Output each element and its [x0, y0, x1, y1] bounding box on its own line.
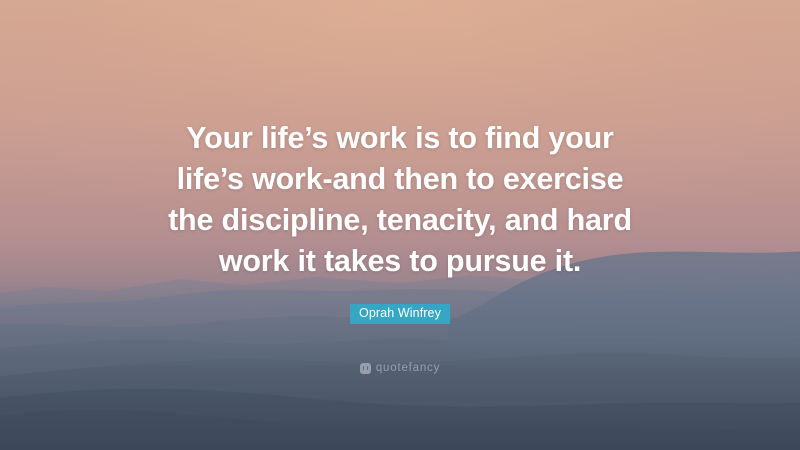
quote-line-1: Your life’s work is to find your — [160, 118, 640, 159]
quote-card: Your life’s work is to find your life’s … — [0, 0, 800, 450]
quote-line-4: work it takes to pursue it. — [160, 241, 640, 282]
quote-text: Your life’s work is to find your life’s … — [160, 118, 640, 282]
author-badge[interactable]: Oprah Winfrey — [350, 304, 450, 324]
quotefancy-logo-icon — [360, 363, 371, 374]
overlay-content: Your life’s work is to find your life’s … — [0, 0, 800, 450]
watermark[interactable]: quotefancy — [0, 362, 800, 374]
quote-line-3: the discipline, tenacity, and hard — [160, 200, 640, 241]
author-badge-container: Oprah Winfrey — [350, 304, 450, 324]
quote-line-2: life’s work-and then to exercise — [160, 159, 640, 200]
watermark-brand: quotefancy — [376, 362, 440, 374]
